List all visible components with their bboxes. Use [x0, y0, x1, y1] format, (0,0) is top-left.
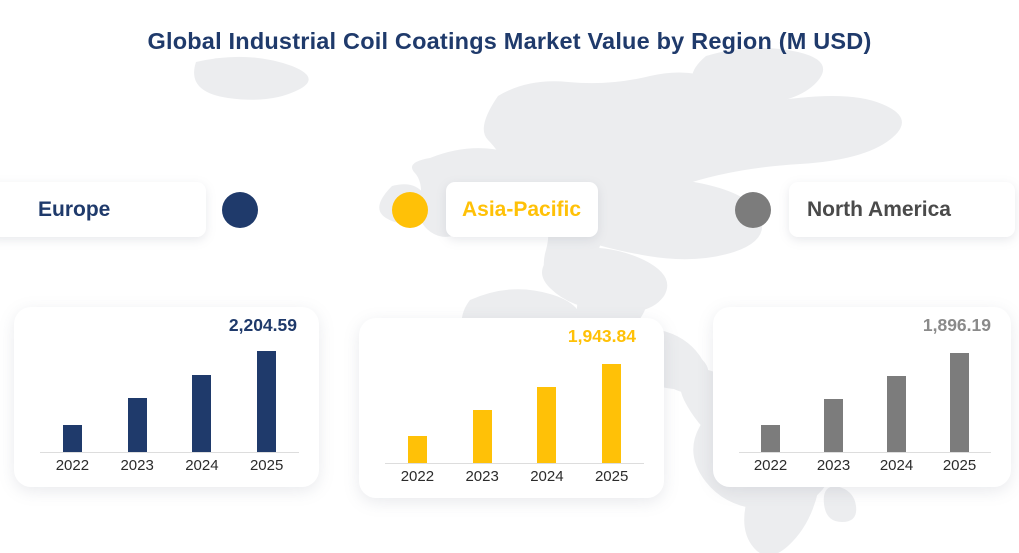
x-tick-2024: 2024: [170, 457, 235, 479]
value-label-asia-pacific: 1,943.84: [568, 326, 636, 347]
legend-pill-asia-pacific: Asia-Pacific: [446, 182, 598, 237]
x-tick-2022: 2022: [385, 468, 450, 490]
x-axis-line-europe: [40, 452, 299, 454]
x-tick-2022: 2022: [40, 457, 105, 479]
bar-2022[interactable]: [408, 436, 427, 463]
plot-area-asia-pacific: [385, 352, 644, 464]
bar-cell: [170, 342, 235, 452]
bar-2025[interactable]: [257, 351, 276, 452]
x-axis-line-asia-pacific: [385, 463, 644, 465]
bar-2023[interactable]: [473, 410, 492, 463]
bar-group-north-america: [739, 342, 991, 452]
bar-cell: [579, 353, 644, 463]
bar-group-europe: [40, 342, 299, 452]
x-axis-labels-north-america: 2022202320242025: [739, 457, 991, 479]
legend-dot-asia-pacific-icon: [392, 192, 428, 228]
legend-pill-europe: Europe: [0, 182, 206, 237]
x-tick-2025: 2025: [579, 468, 644, 490]
bar-cell: [234, 342, 299, 452]
bar-2022[interactable]: [63, 425, 82, 452]
bar-group-asia-pacific: [385, 353, 644, 463]
bar-2025[interactable]: [602, 364, 621, 463]
bar-cell: [105, 342, 170, 452]
x-tick-2025: 2025: [234, 457, 299, 479]
value-label-north-america: 1,896.19: [923, 315, 991, 336]
chart-card-europe[interactable]: 2,204.59 2022202320242025: [14, 307, 319, 487]
bar-2023[interactable]: [128, 398, 147, 452]
x-tick-2022: 2022: [739, 457, 802, 479]
legend-item-north-america[interactable]: North America: [735, 182, 1015, 237]
infographic-canvas: Global Industrial Coil Coatings Market V…: [0, 0, 1019, 553]
bar-2022[interactable]: [761, 425, 780, 452]
bar-cell: [385, 353, 450, 463]
legend-label-north-america: North America: [807, 198, 951, 222]
bar-cell: [40, 342, 105, 452]
legend-dot-europe-icon: [222, 192, 258, 228]
x-tick-2025: 2025: [928, 457, 991, 479]
bar-cell: [865, 342, 928, 452]
x-tick-2024: 2024: [865, 457, 928, 479]
bar-2024[interactable]: [192, 375, 211, 452]
chart-card-north-america[interactable]: 1,896.19 2022202320242025: [713, 307, 1011, 487]
x-tick-2023: 2023: [105, 457, 170, 479]
x-tick-2023: 2023: [450, 468, 515, 490]
bar-2025[interactable]: [950, 353, 969, 452]
legend-label-asia-pacific: Asia-Pacific: [462, 198, 581, 222]
plot-area-north-america: [739, 341, 991, 453]
bar-cell: [802, 342, 865, 452]
x-tick-2023: 2023: [802, 457, 865, 479]
legend-pill-north-america: North America: [789, 182, 1015, 237]
bar-cell: [739, 342, 802, 452]
chart-card-asia-pacific[interactable]: 1,943.84 2022202320242025: [359, 318, 664, 498]
bar-2024[interactable]: [537, 387, 556, 463]
bar-2023[interactable]: [824, 399, 843, 452]
legend-item-europe[interactable]: Europe: [0, 182, 258, 237]
legend-label-europe: Europe: [38, 198, 110, 222]
bar-cell: [515, 353, 580, 463]
bar-2024[interactable]: [887, 376, 906, 452]
legend: Europe Asia-Pacific North America: [0, 182, 1019, 240]
bar-cell: [928, 342, 991, 452]
x-tick-2024: 2024: [515, 468, 580, 490]
bar-cell: [450, 353, 515, 463]
x-axis-labels-europe: 2022202320242025: [40, 457, 299, 479]
page-title: Global Industrial Coil Coatings Market V…: [0, 28, 1019, 55]
x-axis-labels-asia-pacific: 2022202320242025: [385, 468, 644, 490]
legend-dot-north-america-icon: [735, 192, 771, 228]
legend-item-asia-pacific[interactable]: Asia-Pacific: [392, 182, 598, 237]
x-axis-line-north-america: [739, 452, 991, 454]
value-label-europe: 2,204.59: [229, 315, 297, 336]
plot-area-europe: [40, 341, 299, 453]
